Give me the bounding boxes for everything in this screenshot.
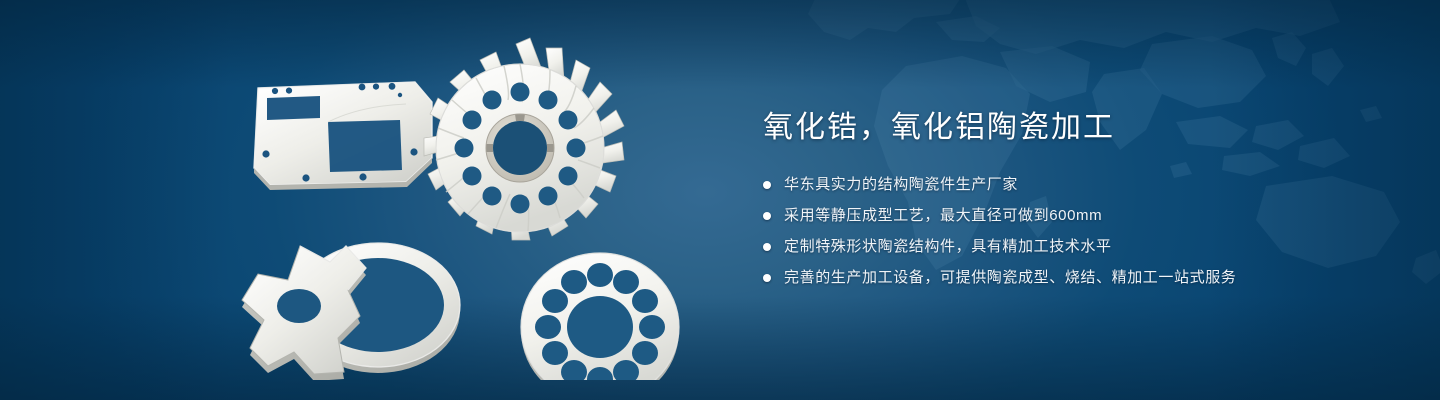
banner-copy: 氧化锆，氧化铝陶瓷加工 华东具实力的结构陶瓷件生产厂家 采用等静压成型工艺，最大… xyxy=(763,108,1323,298)
bullet-dot-icon xyxy=(763,274,771,282)
feature-text: 定制特殊形状陶瓷结构件，具有精加工技术水平 xyxy=(784,236,1112,258)
ceramic-impeller-disc xyxy=(424,38,624,240)
list-item: 完善的生产加工设备，可提供陶瓷成型、烧结、精加工一站式服务 xyxy=(763,267,1323,289)
ceramic-processing-banner: 氧化锆，氧化铝陶瓷加工 华东具实力的结构陶瓷件生产厂家 采用等静压成型工艺，最大… xyxy=(0,0,1440,400)
list-item: 华东具实力的结构陶瓷件生产厂家 xyxy=(763,174,1323,196)
bullet-dot-icon xyxy=(763,243,771,251)
page-title: 氧化锆，氧化铝陶瓷加工 xyxy=(763,108,1323,148)
list-item: 定制特殊形状陶瓷结构件，具有精加工技术水平 xyxy=(763,236,1323,258)
feature-list: 华东具实力的结构陶瓷件生产厂家 采用等静压成型工艺，最大直径可做到600mm 定… xyxy=(763,174,1323,289)
feature-text: 华东具实力的结构陶瓷件生产厂家 xyxy=(784,174,1018,196)
ceramic-perforated-disc xyxy=(521,253,679,380)
feature-text: 完善的生产加工设备，可提供陶瓷成型、烧结、精加工一站式服务 xyxy=(784,267,1236,289)
feature-text: 采用等静压成型工艺，最大直径可做到600mm xyxy=(784,205,1102,227)
ceramic-parts-photo-group xyxy=(210,30,730,380)
ceramic-mounting-plate xyxy=(254,82,432,190)
bullet-dot-icon xyxy=(763,212,771,220)
list-item: 采用等静压成型工艺，最大直径可做到600mm xyxy=(763,205,1323,227)
bullet-dot-icon xyxy=(763,181,771,189)
